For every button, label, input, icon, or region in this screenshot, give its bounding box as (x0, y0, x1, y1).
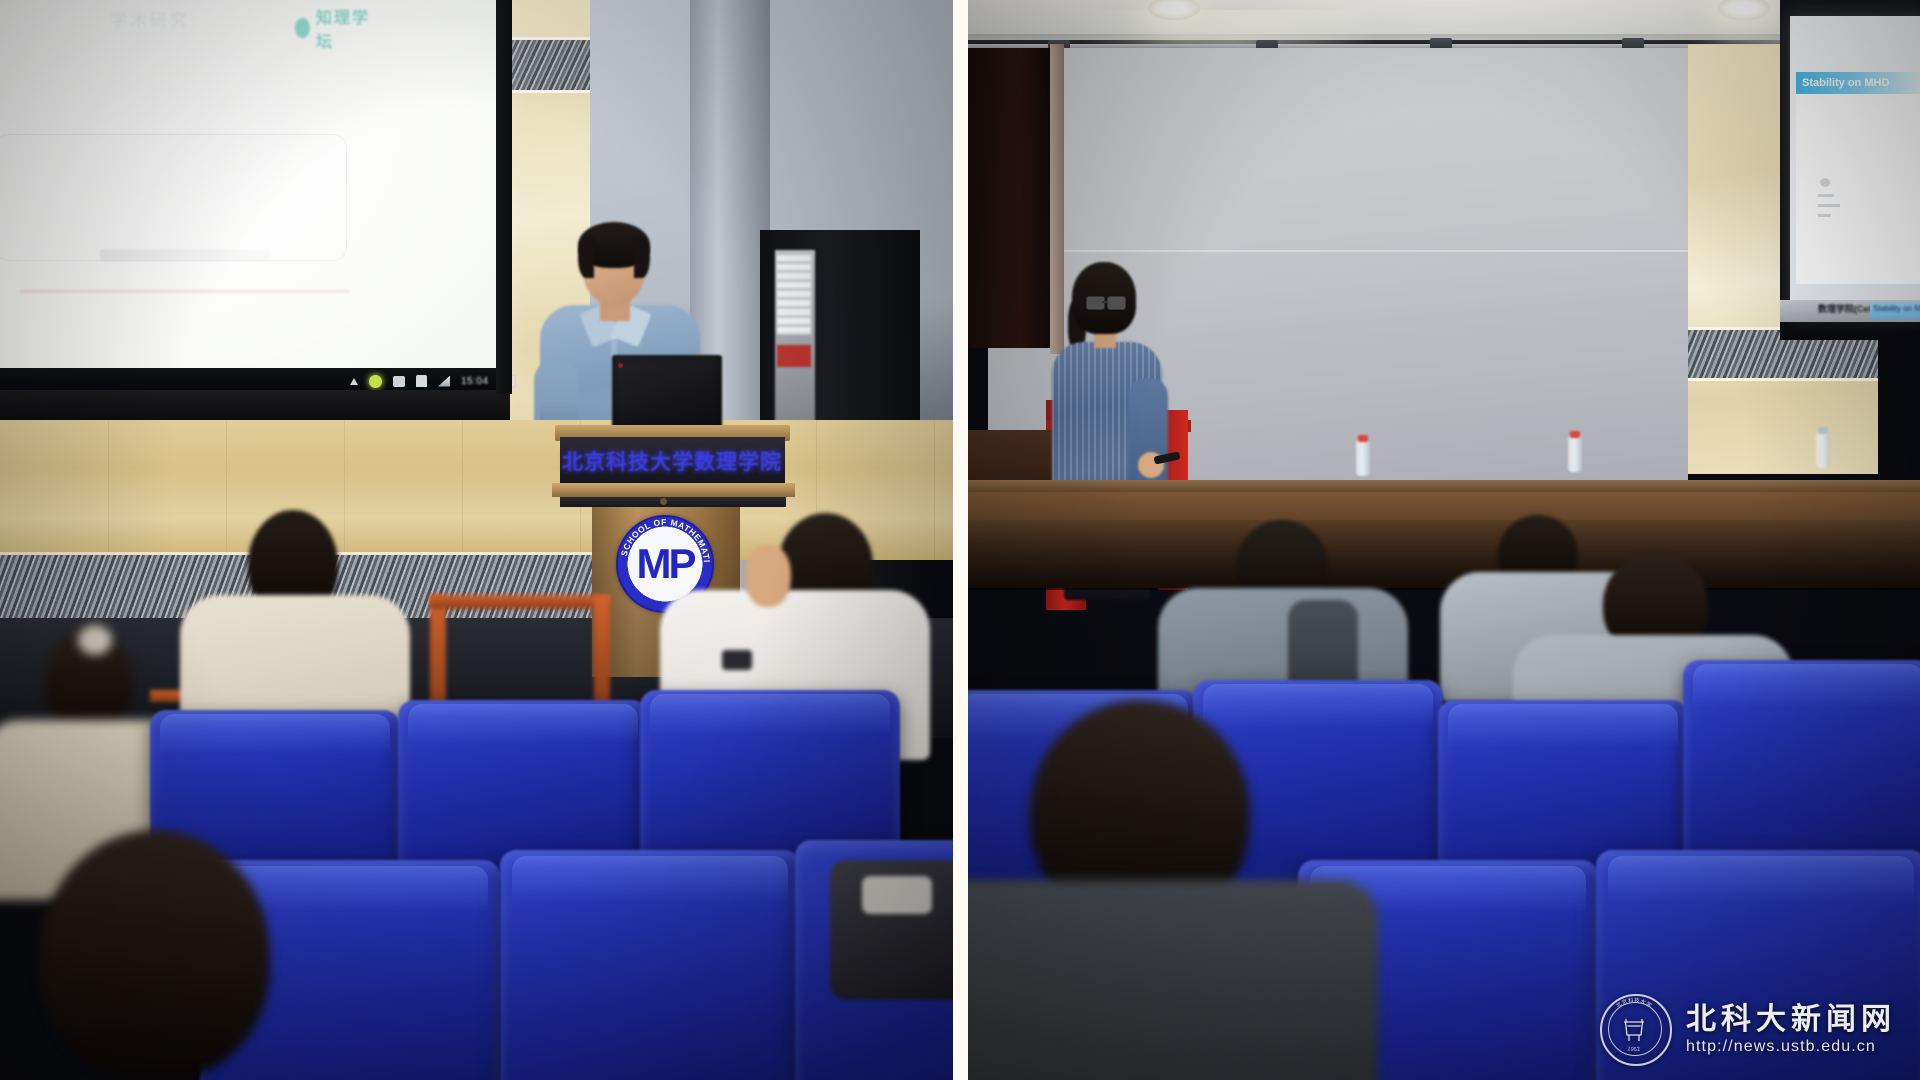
left-slide-logo: 知理学坛 (295, 4, 370, 52)
watermark-text-block: 北科大新闻网 http://news.ustb.edu.cn (1686, 1004, 1896, 1056)
left-slide-header: 学术研究 知理学坛 (110, 2, 370, 30)
ustb-seal-circular-text: 北京科技大学 1952 (1600, 994, 1668, 1062)
left-slide-logo-text: 知理学坛 (316, 4, 370, 52)
left-cabinet-label-strip (777, 255, 811, 335)
water-bottle (1356, 440, 1370, 476)
left-slide-logo-mark (295, 18, 310, 38)
watermark-site-name: 北科大新闻网 (1686, 1004, 1896, 1036)
foreground-bag-paper (862, 876, 932, 914)
slide-figure-line (1818, 204, 1840, 207)
audience-person-hand (745, 545, 791, 607)
auditorium-seat-highlight (512, 856, 788, 902)
water-bottle (1816, 432, 1830, 468)
left-screen-right-frame (496, 0, 512, 394)
ustb-news-watermark: 北京科技大学 1952 北科大新闻网 http://news.ustb.edu.… (1600, 994, 1896, 1066)
taskbar-clock[interactable]: 15:04 (461, 376, 489, 387)
printer-icon[interactable] (416, 375, 427, 387)
svg-text:北京科技大学: 北京科技大学 (1614, 996, 1654, 1010)
network-icon[interactable] (438, 376, 450, 387)
left-slide-title: 学术研究 (110, 6, 190, 31)
folder-icon[interactable] (393, 376, 405, 387)
left-slide-underline (20, 290, 350, 293)
foreground-person-body (968, 880, 1378, 1080)
slide-figure-line (1818, 194, 1834, 197)
water-bottle-cap (1570, 431, 1580, 438)
left-podium-nameplate-text: 北京科技大学数理学院 (568, 448, 776, 474)
auditorium-seat-highlight (408, 704, 638, 744)
auditorium-seat-highlight (1608, 856, 1914, 902)
water-bottle-cap (1818, 427, 1828, 434)
left-laptop-logo-dot (618, 363, 623, 368)
desk-frame-vertical (430, 595, 446, 715)
ustb-seal-logo: 北京科技大学 1952 (1600, 994, 1672, 1066)
eyeglasses-bridge (1102, 301, 1108, 303)
left-podium-lip (552, 483, 795, 497)
audience-person-hairtie (78, 625, 112, 655)
svg-text:1952: 1952 (1627, 1046, 1642, 1053)
left-photo-panel: 学术研究 知理学坛 15:04 (0, 0, 953, 1080)
right-taskbar-window-button-label[interactable]: Stability on MHD (1873, 304, 1920, 313)
right-doorway (968, 48, 1058, 348)
left-granite-band-upper (500, 40, 590, 90)
foreground-person-hair (40, 830, 270, 1080)
left-screen-bottom-frame (0, 390, 510, 420)
slide-figure-dot (1820, 178, 1830, 187)
slide-figure-line (1818, 214, 1831, 217)
green-dot-icon[interactable] (369, 375, 382, 388)
photo-diptych: 学术研究 知理学坛 15:04 (0, 0, 1920, 1080)
water-bottle-cap (1358, 435, 1368, 442)
desk-frame-vertical (594, 595, 610, 705)
right-slide-title: Stability on MHD (1802, 74, 1920, 92)
right-stage-shadow (968, 520, 1920, 590)
water-bottle (1568, 436, 1582, 472)
left-podium-knob (660, 498, 667, 505)
eyeglasses-left-lens (1086, 296, 1105, 310)
right-door-frame (1050, 44, 1064, 354)
caret-up-icon[interactable] (350, 378, 358, 385)
left-slide-faint-text (100, 249, 270, 261)
panel-divider (953, 0, 968, 1080)
auditorium-seat-highlight (1448, 704, 1678, 748)
watermark-url: http://news.ustb.edu.cn (1686, 1038, 1896, 1056)
auditorium-seat-highlight (1693, 664, 1920, 708)
auditorium-seat-highlight (1203, 684, 1433, 728)
eyeglasses-right-lens (1107, 296, 1126, 310)
left-speaker-hair-side-right (634, 238, 650, 278)
left-laptop-lid (612, 355, 722, 427)
auditorium-seat-highlight (650, 694, 890, 734)
right-wall-seam (988, 250, 1688, 252)
left-screen-system-tray[interactable]: 15:04 (350, 371, 516, 391)
right-slide-body (1796, 94, 1920, 284)
left-projector-screen: 学术研究 知理学坛 (0, 0, 510, 402)
left-cabinet-red-marker (777, 345, 811, 367)
left-speaker-hair-side-left (578, 238, 594, 278)
auditorium-seat-highlight (160, 714, 390, 754)
right-photo-panel: Stability on MHD 数理学院(Cell Rui) Stabilit… (968, 0, 1920, 1080)
audience-person-watch (722, 650, 752, 670)
left-podium-lip-shadow (560, 497, 786, 507)
left-slide-content-box (0, 134, 347, 261)
desk-frame-horizontal (430, 595, 610, 609)
